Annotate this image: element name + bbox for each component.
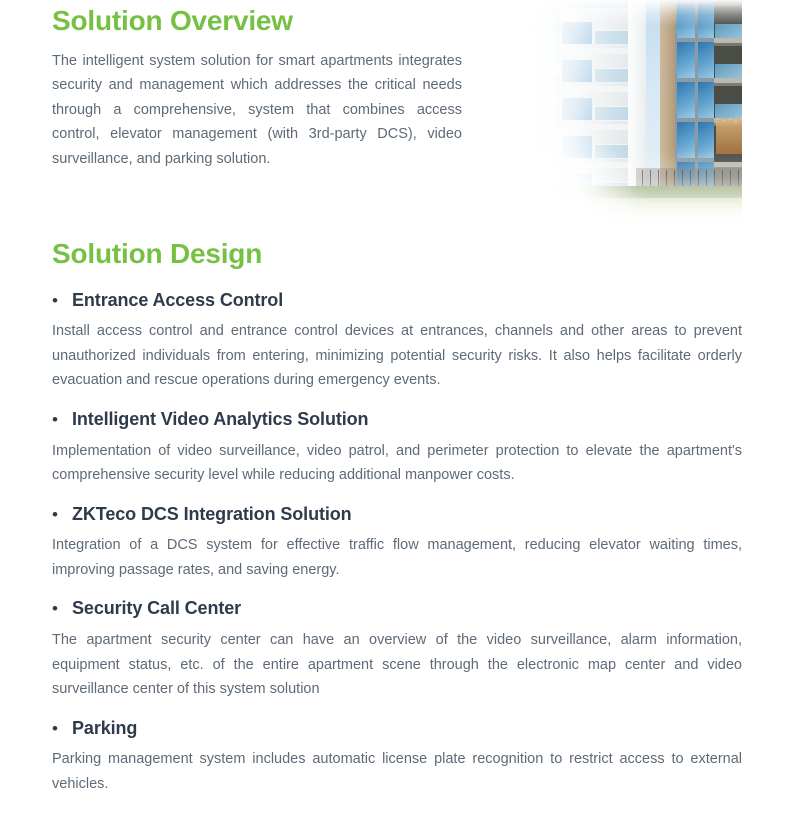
document-page: Solution Overview The intelligent system…: [0, 0, 791, 817]
bullet-dot-icon: •: [52, 720, 72, 737]
bullet-dot-icon: •: [52, 411, 72, 428]
string-lights-icon: [715, 116, 742, 124]
design-item-body: Integration of a DCS system for effectiv…: [52, 533, 742, 582]
design-item-zkteco-dcs-integration: • ZKTeco DCS Integration Solution Integr…: [52, 504, 742, 583]
solution-overview-heading: Solution Overview: [52, 6, 464, 37]
design-item-entrance-access-control: • Entrance Access Control Install access…: [52, 290, 742, 393]
solution-overview-paragraph: The intelligent system solution for smar…: [52, 49, 462, 172]
photo-fade-corner: [528, 110, 638, 220]
bullet-heading-row: • Entrance Access Control: [52, 290, 742, 311]
design-item-parking: • Parking Parking management system incl…: [52, 718, 742, 797]
design-item-security-call-center: • Security Call Center The apartment sec…: [52, 598, 742, 701]
photo-canvas: [528, 0, 742, 220]
design-item-title: Security Call Center: [72, 598, 241, 619]
bullet-heading-row: • Intelligent Video Analytics Solution: [52, 409, 742, 430]
bullet-heading-row: • Parking: [52, 718, 742, 739]
solution-design-heading: Solution Design: [52, 239, 742, 270]
design-item-title: Parking: [72, 718, 137, 739]
bullet-dot-icon: •: [52, 292, 72, 309]
bullet-dot-icon: •: [52, 600, 72, 617]
bullet-heading-row: • ZKTeco DCS Integration Solution: [52, 504, 742, 525]
design-item-body: Parking management system includes autom…: [52, 747, 742, 796]
bullet-heading-row: • Security Call Center: [52, 598, 742, 619]
design-item-body: Implementation of video surveillance, vi…: [52, 439, 742, 488]
bullet-dot-icon: •: [52, 506, 72, 523]
design-item-intelligent-video-analytics: • Intelligent Video Analytics Solution I…: [52, 409, 742, 488]
solution-overview-block: Solution Overview The intelligent system…: [52, 6, 464, 171]
lit-balcony-interior: [716, 120, 742, 154]
design-item-title: ZKTeco DCS Integration Solution: [72, 504, 352, 525]
solution-design-block: Solution Design • Entrance Access Contro…: [52, 239, 742, 796]
design-item-body: Install access control and entrance cont…: [52, 319, 742, 393]
design-item-title: Intelligent Video Analytics Solution: [72, 409, 368, 430]
design-item-title: Entrance Access Control: [72, 290, 283, 311]
apartment-building-photo: [528, 0, 742, 220]
design-item-body: The apartment security center can have a…: [52, 628, 742, 702]
